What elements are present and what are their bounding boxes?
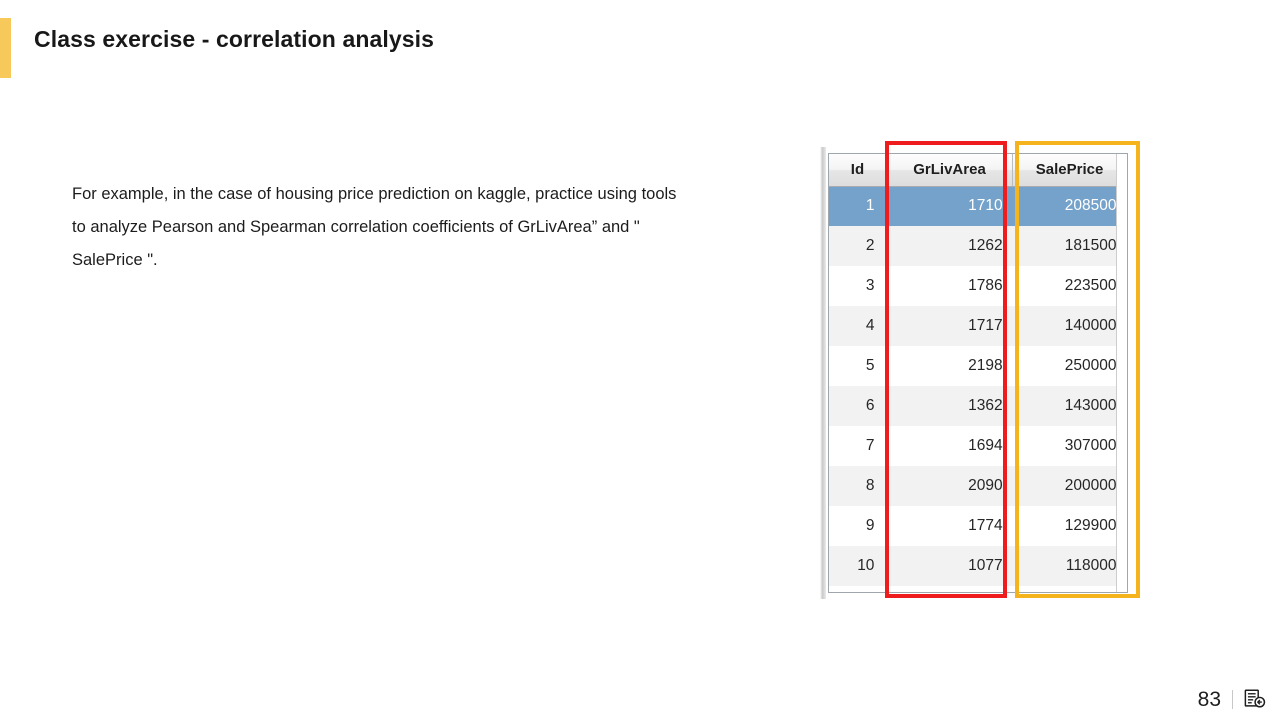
cell-saleprice: 129900 — [1013, 506, 1127, 546]
column-header-saleprice[interactable]: SalePrice — [1013, 154, 1127, 186]
data-table-frame: Id GrLivArea SalePrice 1 1710 208500 2 1… — [828, 153, 1128, 593]
footer-divider — [1232, 690, 1233, 709]
body-paragraph: For example, in the case of housing pric… — [72, 178, 692, 277]
table-row[interactable]: 3 1786 223500 — [829, 266, 1127, 306]
table-row[interactable]: 9 1774 129900 — [829, 506, 1127, 546]
table-row[interactable]: 1 1710 208500 — [829, 186, 1127, 226]
cell-saleprice: 208500 — [1013, 186, 1127, 226]
cell-saleprice: 200000 — [1013, 466, 1127, 506]
cell-id: 6 — [829, 386, 886, 426]
page-number: 83 — [1198, 689, 1221, 710]
cell-grlivarea: 1362 — [886, 386, 1012, 426]
cell-grlivarea: 1262 — [886, 226, 1012, 266]
cell-id: 4 — [829, 306, 886, 346]
table-body: 1 1710 208500 2 1262 181500 3 1786 22350… — [829, 186, 1127, 586]
cell-grlivarea: 1077 — [886, 546, 1012, 586]
table-row[interactable]: 7 1694 307000 — [829, 426, 1127, 466]
cell-id: 5 — [829, 346, 886, 386]
cell-saleprice: 250000 — [1013, 346, 1127, 386]
cell-saleprice: 140000 — [1013, 306, 1127, 346]
table-row[interactable]: 4 1717 140000 — [829, 306, 1127, 346]
table-header-row: Id GrLivArea SalePrice — [829, 154, 1127, 186]
cell-grlivarea: 1786 — [886, 266, 1012, 306]
table-scroll-strip — [820, 147, 826, 599]
page-title: Class exercise - correlation analysis — [34, 26, 434, 53]
cell-id: 9 — [829, 506, 886, 546]
table-row[interactable]: 6 1362 143000 — [829, 386, 1127, 426]
table-row[interactable]: 8 2090 200000 — [829, 466, 1127, 506]
table-row[interactable]: 5 2198 250000 — [829, 346, 1127, 386]
title-accent-bar — [0, 18, 11, 78]
table-right-filler — [1116, 154, 1127, 592]
cell-grlivarea: 1694 — [886, 426, 1012, 466]
cell-grlivarea: 2090 — [886, 466, 1012, 506]
cell-saleprice: 118000 — [1013, 546, 1127, 586]
column-header-grlivarea[interactable]: GrLivArea — [886, 154, 1012, 186]
cell-saleprice: 223500 — [1013, 266, 1127, 306]
cell-saleprice: 307000 — [1013, 426, 1127, 466]
data-table: Id GrLivArea SalePrice 1 1710 208500 2 1… — [829, 154, 1127, 586]
cell-grlivarea: 1774 — [886, 506, 1012, 546]
cell-grlivarea: 1710 — [886, 186, 1012, 226]
cell-id: 7 — [829, 426, 886, 466]
column-header-id[interactable]: Id — [829, 154, 886, 186]
footer: 83 — [1198, 688, 1266, 710]
cell-saleprice: 143000 — [1013, 386, 1127, 426]
cell-id: 1 — [829, 186, 886, 226]
report-back-icon[interactable] — [1244, 688, 1266, 710]
cell-id: 3 — [829, 266, 886, 306]
table-row[interactable]: 2 1262 181500 — [829, 226, 1127, 266]
cell-grlivarea: 1717 — [886, 306, 1012, 346]
cell-id: 8 — [829, 466, 886, 506]
table-figure: Id GrLivArea SalePrice 1 1710 208500 2 1… — [820, 145, 1142, 605]
cell-id: 2 — [829, 226, 886, 266]
cell-saleprice: 181500 — [1013, 226, 1127, 266]
cell-grlivarea: 2198 — [886, 346, 1012, 386]
cell-id: 10 — [829, 546, 886, 586]
table-row[interactable]: 10 1077 118000 — [829, 546, 1127, 586]
